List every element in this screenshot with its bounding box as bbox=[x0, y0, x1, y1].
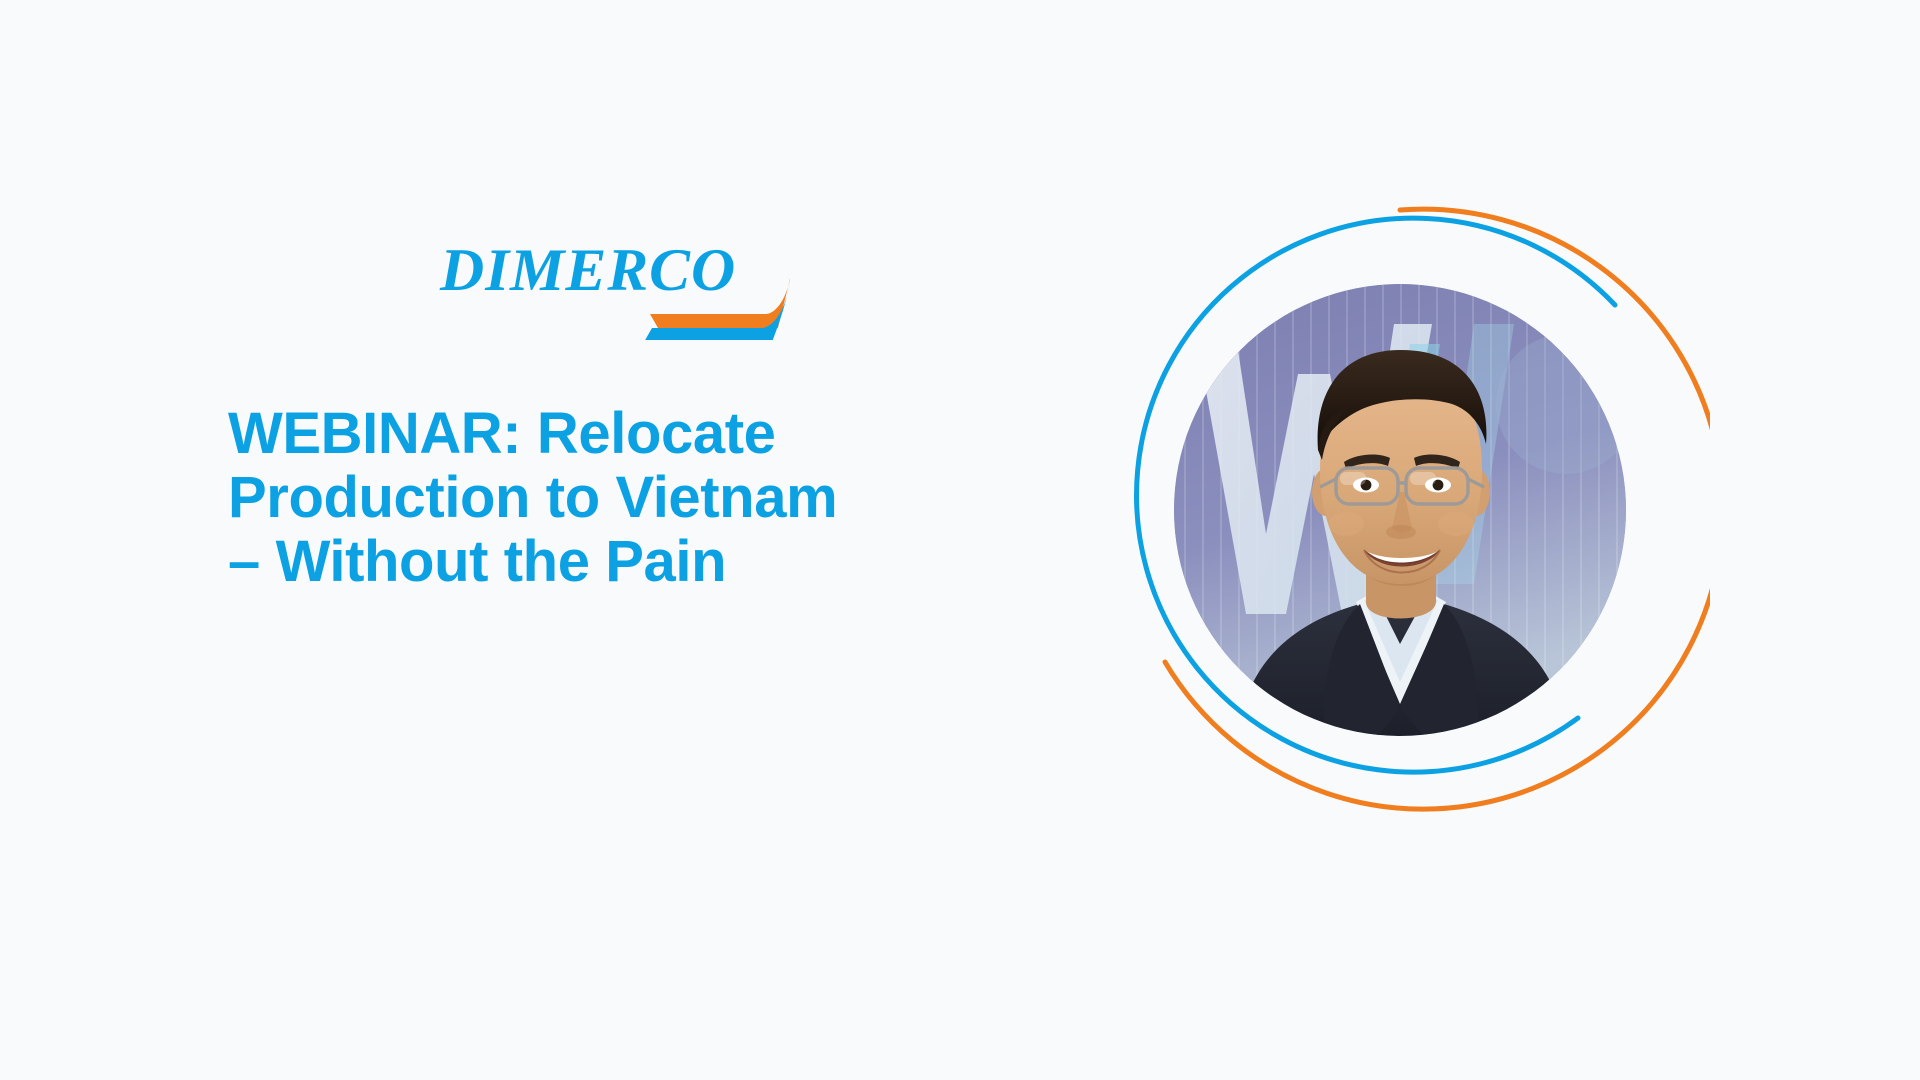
speaker-portrait bbox=[1090, 200, 1710, 820]
dimerco-logo-wordmark: DIMERCO bbox=[440, 240, 736, 300]
headline-line-2: Production to Vietnam bbox=[228, 465, 837, 530]
speaker-photo bbox=[1174, 284, 1626, 736]
webinar-promo-slide: DIMERCO WEBINAR: Relocate Production to … bbox=[0, 0, 1920, 1080]
headline-line-1: WEBINAR: Relocate bbox=[228, 401, 776, 466]
headline-line-3: – Without the Pain bbox=[228, 529, 726, 594]
dimerco-logo: DIMERCO bbox=[440, 240, 790, 340]
page-title: WEBINAR: Relocate Production to Vietnam … bbox=[228, 402, 868, 593]
left-content-column: DIMERCO WEBINAR: Relocate Production to … bbox=[228, 240, 988, 632]
speaker-photo-image bbox=[1174, 284, 1626, 736]
